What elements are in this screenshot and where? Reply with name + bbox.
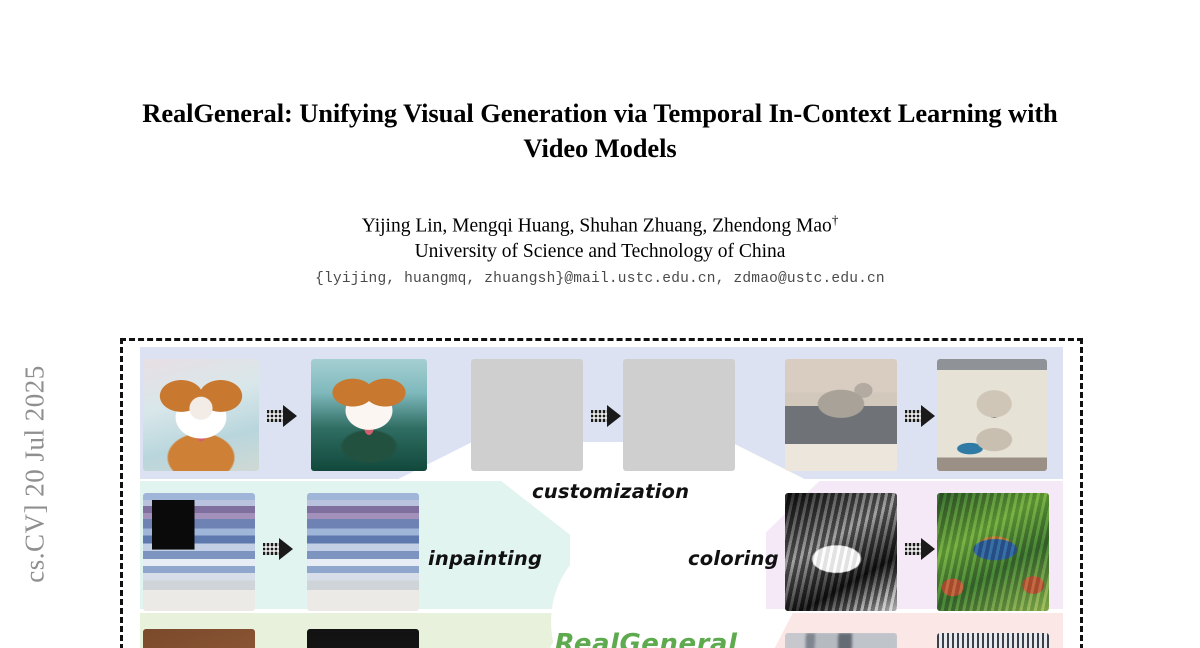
thumbnail-weimaraner-input [785, 359, 897, 471]
authors-names: Yijing Lin, Mengqi Huang, Shuhan Zhuang,… [362, 216, 832, 237]
thumbnail-inpainting-output [307, 493, 419, 611]
image-corgi-swimming [311, 359, 427, 471]
image-person-sunglasses [143, 629, 255, 648]
motion-arrow-right-icon [589, 401, 629, 431]
title-block: RealGeneral: Unifying Visual Generation … [120, 96, 1080, 166]
motion-arrow-right-icon [261, 534, 301, 564]
teaser-figure: RealGeneral customization inpainting col… [120, 338, 1083, 648]
image-winged-poop-sky [623, 359, 735, 471]
image-poop-emoji-asphalt [471, 359, 583, 471]
image-high-resolution [937, 633, 1049, 648]
paper-page: cs.CV] 20 Jul 2025 RealGeneral: Unifying… [0, 0, 1200, 648]
motion-arrow-right-icon [903, 401, 943, 431]
image-corgi-cherry-blossom [143, 359, 259, 471]
thumbnail-coloring-input [785, 493, 897, 611]
label-coloring: coloring [688, 547, 779, 570]
motion-arrow-right-icon [265, 401, 305, 431]
page-title: RealGeneral: Unifying Visual Generation … [120, 96, 1080, 166]
thumbnail-bottom-right-input [785, 633, 897, 648]
motion-arrow-right-icon [903, 534, 943, 564]
thumbnail-bottom-left-input [143, 629, 255, 648]
thumbnail-weimaraner-output [937, 359, 1047, 471]
image-weimaraner-couch [785, 359, 897, 471]
thumbnail-corgi-input [143, 359, 259, 471]
label-customization: customization [532, 480, 689, 503]
thumbnail-bottom-right-output [937, 633, 1049, 648]
arxiv-stamp-text: cs.CV] 20 Jul 2025 [20, 365, 51, 583]
teaser-figure-inner: RealGeneral customization inpainting col… [123, 341, 1080, 648]
image-person-depth-map [307, 629, 419, 648]
image-low-resolution [785, 633, 897, 648]
thumbnail-coloring-output [937, 493, 1049, 611]
image-shower-curtain-masked [143, 493, 255, 611]
affiliation-line: University of Science and Technology of … [120, 239, 1080, 265]
emails-line: {lyijing, huangmq, zhuangsh}@mail.ustc.e… [120, 271, 1080, 287]
thumbnail-poop-output [623, 359, 735, 471]
label-inpainting: inpainting [428, 547, 542, 570]
image-colorized-bench [937, 493, 1049, 611]
thumbnail-corgi-output [311, 359, 427, 471]
image-weimaraner-painting [937, 359, 1047, 471]
image-shower-curtain-restored [307, 493, 419, 611]
thumbnail-inpainting-input [143, 493, 255, 611]
author-block: Yijing Lin, Mengqi Huang, Shuhan Zhuang,… [120, 211, 1080, 287]
brand-name: RealGeneral [551, 629, 741, 648]
corresponding-author-dagger: † [832, 212, 839, 227]
authors-line: Yijing Lin, Mengqi Huang, Shuhan Zhuang,… [120, 211, 1080, 239]
image-grayscale-bench [785, 493, 897, 611]
thumbnail-poop-input [471, 359, 583, 471]
arxiv-stamp: cs.CV] 20 Jul 2025 [0, 300, 70, 648]
thumbnail-bottom-left-output [307, 629, 419, 648]
